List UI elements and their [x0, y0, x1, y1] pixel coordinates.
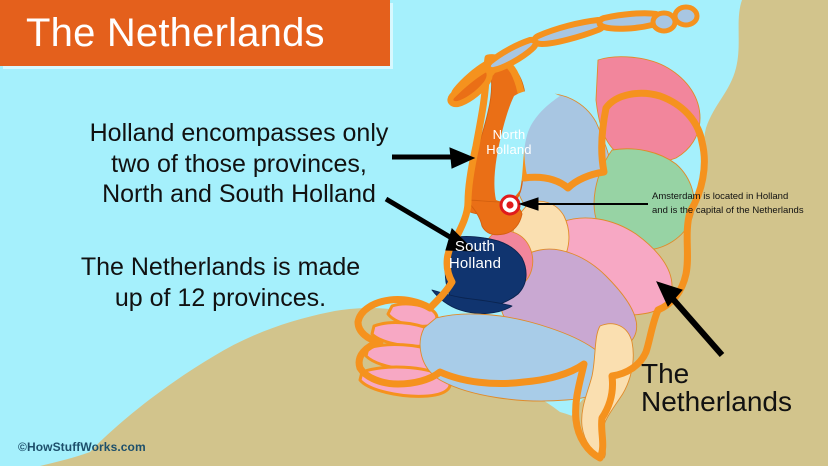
callout-provinces: The Netherlands is made up of 12 provinc…	[58, 252, 383, 313]
label-north-holland-line-1: North	[477, 128, 541, 143]
label-south-holland-line-1: South	[440, 238, 510, 255]
callout-holland: Holland encompasses only two of those pr…	[74, 118, 404, 210]
callout-provinces-line-2: up of 12 provinces.	[58, 283, 383, 314]
label-north-holland: North Holland	[477, 128, 541, 158]
callout-holland-line-3: North and South Holland	[74, 179, 404, 210]
label-north-holland-line-2: Holland	[477, 143, 541, 158]
label-south-holland-line-2: Holland	[440, 255, 510, 272]
title-banner: The Netherlands	[0, 0, 390, 66]
page-title: The Netherlands	[0, 13, 325, 53]
amsterdam-annotation-line-2: and is the capital of the Netherlands	[652, 204, 828, 218]
callout-provinces-line-1: The Netherlands is made	[58, 252, 383, 283]
amsterdam-annotation-line-1: Amsterdam is located in Holland	[652, 190, 828, 204]
label-south-holland: South Holland	[440, 238, 510, 273]
credit-watermark: ©HowStuffWorks.com	[18, 440, 146, 454]
amsterdam-capital-marker	[501, 196, 519, 214]
amsterdam-annotation: Amsterdam is located in Holland and is t…	[652, 190, 828, 218]
callout-holland-line-1: Holland encompasses only	[74, 118, 404, 149]
infographic-canvas: The Netherlands Holland encompasses only…	[0, 0, 828, 466]
callout-holland-line-2: two of those provinces,	[74, 149, 404, 180]
country-label: The Netherlands	[641, 360, 828, 416]
